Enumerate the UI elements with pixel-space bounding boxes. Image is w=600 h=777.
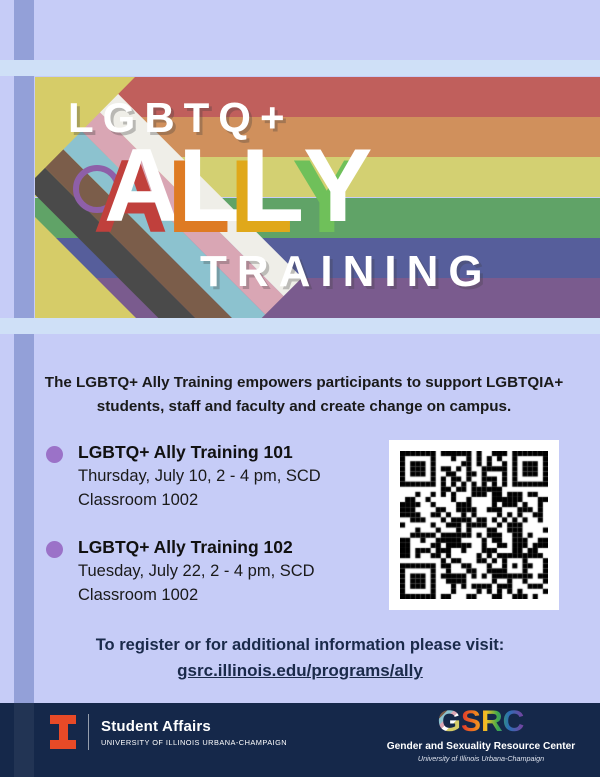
- student-affairs-text: Student Affairs UNIVERSITY OF ILLINOIS U…: [101, 718, 287, 747]
- horizontal-band-bottom: [0, 318, 600, 334]
- event-detail-line-1: Thursday, July 10, 2 - 4 pm, SCD: [78, 465, 372, 489]
- intersex-circle-icon: [73, 165, 121, 213]
- logo-divider: [88, 714, 89, 750]
- footer-accent-stripe: [14, 703, 34, 777]
- register-block: To register or for additional informatio…: [30, 633, 570, 683]
- register-url-link[interactable]: gsrc.illinois.edu/programs/ally: [177, 658, 423, 684]
- student-affairs-title: Student Affairs: [101, 718, 287, 735]
- event-detail-line-2: Classroom 1002: [78, 584, 372, 608]
- event-detail-line-2: Classroom 1002: [78, 489, 372, 513]
- event-detail-line-1: Tuesday, July 22, 2 - 4 pm, SCD: [78, 560, 372, 584]
- progress-pride-flag: [35, 77, 600, 318]
- register-prompt: To register or for additional informatio…: [30, 633, 570, 658]
- intro-paragraph: The LGBTQ+ Ally Training empowers partic…: [40, 371, 568, 418]
- event-title: LGBTQ+ Ally Training 101: [78, 441, 372, 465]
- list-item: LGBTQ+ Ally Training 102 Tuesday, July 2…: [42, 536, 372, 607]
- student-affairs-subtitle: UNIVERSITY OF ILLINOIS URBANA-CHAMPAIGN: [101, 738, 287, 747]
- event-title: LGBTQ+ Ally Training 102: [78, 536, 372, 560]
- block-i-icon: [50, 715, 76, 749]
- gsrc-university: University of Illinois Urbana-Champaign: [381, 754, 581, 763]
- event-list: LGBTQ+ Ally Training 101 Thursday, July …: [42, 441, 372, 632]
- bullet-icon: [46, 446, 63, 463]
- gsrc-logo: GSRC Gender and Sexuality Resource Cente…: [381, 707, 581, 763]
- student-affairs-logo: Student Affairs UNIVERSITY OF ILLINOIS U…: [50, 714, 287, 750]
- gsrc-full-name: Gender and Sexuality Resource Center: [381, 741, 581, 752]
- gsrc-wordmark: GSRC: [381, 707, 581, 737]
- qr-code-image[interactable]: [400, 451, 548, 599]
- poster: LGBTQ+ A L L Y TRAINING The LGBTQ+ Ally …: [0, 0, 600, 777]
- bullet-icon: [46, 541, 63, 558]
- vertical-accent-stripe: [14, 0, 34, 703]
- gsrc-letters-src: SRC: [461, 707, 524, 737]
- list-item: LGBTQ+ Ally Training 101 Thursday, July …: [42, 441, 372, 512]
- horizontal-band-top: [0, 60, 600, 76]
- qr-code[interactable]: [389, 440, 559, 610]
- gsrc-letter-g: G: [438, 707, 461, 737]
